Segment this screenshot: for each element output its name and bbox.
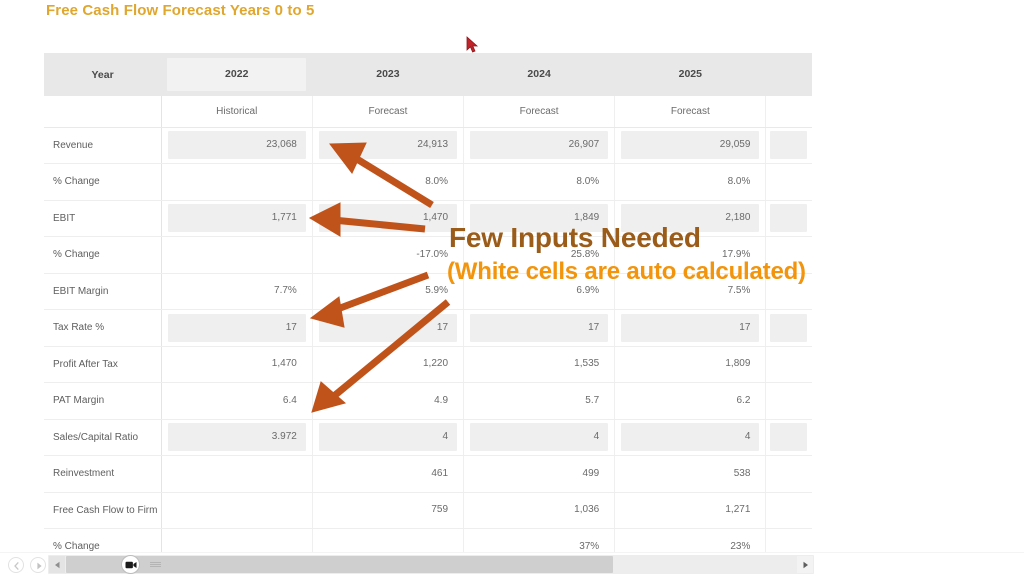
input-cell[interactable] bbox=[766, 200, 812, 237]
header-col-2024[interactable]: 2024 bbox=[464, 53, 615, 96]
cell-value: 1,220 bbox=[319, 350, 457, 378]
cell-value: 8.0% bbox=[621, 168, 759, 196]
cell-value bbox=[770, 204, 807, 232]
cell-value: 4 bbox=[470, 423, 608, 451]
table-row: % Change8.0%8.0%8.0% bbox=[44, 164, 812, 201]
cell-value bbox=[168, 168, 306, 196]
cell-value: 8.0% bbox=[319, 168, 457, 196]
row-label: Revenue bbox=[44, 127, 161, 164]
cell-value bbox=[770, 314, 807, 342]
cell-value bbox=[770, 423, 807, 451]
cell-value: 6.2 bbox=[621, 387, 759, 415]
cell-value: 759 bbox=[319, 496, 457, 524]
cell-value: 23,068 bbox=[168, 131, 306, 159]
cell-value: 1,470 bbox=[168, 350, 306, 378]
previous-slide-button[interactable] bbox=[8, 557, 24, 573]
calculated-cell bbox=[766, 492, 812, 529]
calculated-cell: 7.7% bbox=[161, 273, 312, 310]
video-camera-icon bbox=[125, 560, 137, 570]
play-triangle-icon bbox=[34, 561, 44, 571]
input-cell[interactable]: 1,771 bbox=[161, 200, 312, 237]
player-toolbar bbox=[0, 552, 1024, 576]
cell-value bbox=[168, 241, 306, 269]
row-label: EBIT Margin bbox=[44, 273, 161, 310]
cell-value bbox=[168, 496, 306, 524]
header-col-2022[interactable]: 2022 bbox=[161, 53, 312, 96]
input-cell[interactable]: 4 bbox=[464, 419, 615, 456]
cell-value: 17 bbox=[168, 314, 306, 342]
calculated-cell: 499 bbox=[464, 456, 615, 493]
calculated-cell: 8.0% bbox=[615, 164, 766, 201]
header-type-2025: Forecast bbox=[615, 96, 766, 127]
cell-value: 17 bbox=[319, 314, 457, 342]
input-cell[interactable]: 24,913 bbox=[312, 127, 463, 164]
free-cash-flow-table: Year 2022 2023 2024 2025 Historical Fore… bbox=[44, 53, 812, 566]
table-head: Year 2022 2023 2024 2025 Historical Fore… bbox=[44, 53, 812, 127]
cell-value: 1,809 bbox=[621, 350, 759, 378]
header-row-year: Year 2022 2023 2024 2025 bbox=[44, 53, 812, 96]
calculated-cell bbox=[766, 346, 812, 383]
cell-value: 4.9 bbox=[319, 387, 457, 415]
cell-value: -17.0% bbox=[319, 241, 457, 269]
input-cell[interactable]: 17 bbox=[312, 310, 463, 347]
cell-value: 1,470 bbox=[319, 204, 457, 232]
header-col-2023[interactable]: 2023 bbox=[312, 53, 463, 96]
input-cell[interactable]: 29,059 bbox=[615, 127, 766, 164]
calculated-cell: 461 bbox=[312, 456, 463, 493]
calculated-cell: 6.4 bbox=[161, 383, 312, 420]
input-cell[interactable]: 17 bbox=[615, 310, 766, 347]
scroll-right-button[interactable] bbox=[797, 556, 813, 573]
row-label: Reinvestment bbox=[44, 456, 161, 493]
header-type-blank bbox=[44, 96, 161, 127]
cell-value bbox=[770, 460, 807, 488]
calculated-cell: 759 bbox=[312, 492, 463, 529]
header-col-2024-label: 2024 bbox=[470, 58, 609, 91]
table-row: Revenue23,06824,91326,90729,059 bbox=[44, 127, 812, 164]
cell-value: 29,059 bbox=[621, 131, 759, 159]
callout-heading: Few Inputs Needed bbox=[449, 222, 701, 254]
fcf-table-container: Year 2022 2023 2024 2025 Historical Fore… bbox=[44, 53, 812, 566]
cell-value: 461 bbox=[319, 460, 457, 488]
cell-value bbox=[770, 387, 807, 415]
table-row: Free Cash Flow to Firm7591,0361,271 bbox=[44, 492, 812, 529]
calculated-cell bbox=[161, 237, 312, 274]
calculated-cell: 1,535 bbox=[464, 346, 615, 383]
header-col-extra bbox=[766, 53, 812, 96]
input-cell[interactable] bbox=[766, 310, 812, 347]
cell-value bbox=[770, 496, 807, 524]
cell-value: 8.0% bbox=[470, 168, 608, 196]
calculated-cell bbox=[161, 492, 312, 529]
horizontal-scrollbar[interactable] bbox=[48, 555, 814, 574]
cell-value: 1,271 bbox=[621, 496, 759, 524]
row-label: Tax Rate % bbox=[44, 310, 161, 347]
input-cell[interactable]: 17 bbox=[464, 310, 615, 347]
table-row: Tax Rate %17171717 bbox=[44, 310, 812, 347]
cell-value: 3.972 bbox=[168, 423, 306, 451]
table-row: Reinvestment461499538 bbox=[44, 456, 812, 493]
page-title: Free Cash Flow Forecast Years 0 to 5 bbox=[46, 2, 314, 19]
calculated-cell: -17.0% bbox=[312, 237, 463, 274]
calculated-cell: 8.0% bbox=[312, 164, 463, 201]
cell-value: 26,907 bbox=[470, 131, 608, 159]
cell-value: 538 bbox=[621, 460, 759, 488]
cell-value: 4 bbox=[319, 423, 457, 451]
row-label: Sales/Capital Ratio bbox=[44, 419, 161, 456]
input-cell[interactable]: 4 bbox=[312, 419, 463, 456]
header-type-2022: Historical bbox=[161, 96, 312, 127]
header-col-2025[interactable]: 2025 bbox=[615, 53, 766, 96]
calculated-cell: 6.2 bbox=[615, 383, 766, 420]
header-col-2022-label: 2022 bbox=[167, 58, 306, 91]
cell-value: 4 bbox=[621, 423, 759, 451]
calculated-cell: 4.9 bbox=[312, 383, 463, 420]
calculated-cell: 8.0% bbox=[464, 164, 615, 201]
calculated-cell bbox=[766, 383, 812, 420]
calculated-cell bbox=[161, 164, 312, 201]
row-label: % Change bbox=[44, 164, 161, 201]
cell-value: 24,913 bbox=[319, 131, 457, 159]
input-cell[interactable]: 4 bbox=[615, 419, 766, 456]
input-cell[interactable]: 26,907 bbox=[464, 127, 615, 164]
input-cell[interactable]: 3.972 bbox=[161, 419, 312, 456]
calculated-cell: 1,470 bbox=[161, 346, 312, 383]
cell-value bbox=[770, 131, 807, 159]
row-label: Profit After Tax bbox=[44, 346, 161, 383]
scroll-left-button[interactable] bbox=[49, 556, 65, 573]
calculated-cell: 538 bbox=[615, 456, 766, 493]
calculated-cell: 5.9% bbox=[312, 273, 463, 310]
header-row-type: Historical Forecast Forecast Forecast bbox=[44, 96, 812, 127]
cell-value: 7.7% bbox=[168, 277, 306, 305]
screen-root: Free Cash Flow Forecast Years 0 to 5 Yea… bbox=[0, 0, 1024, 576]
calculated-cell: 1,809 bbox=[615, 346, 766, 383]
cell-value: 1,036 bbox=[470, 496, 608, 524]
table-row: Profit After Tax1,4701,2201,5351,809 bbox=[44, 346, 812, 383]
cell-value: 17 bbox=[470, 314, 608, 342]
cell-value bbox=[770, 168, 807, 196]
row-label: PAT Margin bbox=[44, 383, 161, 420]
row-label: EBIT bbox=[44, 200, 161, 237]
input-cell[interactable] bbox=[766, 419, 812, 456]
calculated-cell: 1,036 bbox=[464, 492, 615, 529]
cell-value: 6.4 bbox=[168, 387, 306, 415]
cell-value: 5.7 bbox=[470, 387, 608, 415]
recording-indicator-button[interactable] bbox=[121, 555, 140, 574]
mouse-cursor-icon bbox=[466, 36, 480, 54]
input-cell[interactable]: 1,470 bbox=[312, 200, 463, 237]
row-label: Free Cash Flow to Firm bbox=[44, 492, 161, 529]
cell-value bbox=[168, 460, 306, 488]
callout-subheading: (White cells are auto calculated) bbox=[447, 258, 806, 286]
cell-value: 5.9% bbox=[319, 277, 457, 305]
table-row: Sales/Capital Ratio3.972444 bbox=[44, 419, 812, 456]
calculated-cell bbox=[161, 456, 312, 493]
cell-value: 1,535 bbox=[470, 350, 608, 378]
drag-grip-icon[interactable] bbox=[150, 562, 161, 567]
input-cell[interactable]: 17 bbox=[161, 310, 312, 347]
cell-value: 1,771 bbox=[168, 204, 306, 232]
cell-value: 499 bbox=[470, 460, 608, 488]
calculated-cell: 5.7 bbox=[464, 383, 615, 420]
chevron-left-icon bbox=[12, 561, 22, 571]
header-year-label: Year bbox=[44, 53, 161, 96]
calculated-cell: 1,220 bbox=[312, 346, 463, 383]
next-slide-button[interactable] bbox=[30, 557, 46, 573]
row-label: % Change bbox=[44, 237, 161, 274]
header-col-2023-label: 2023 bbox=[318, 58, 457, 91]
cell-value bbox=[770, 350, 807, 378]
header-col-2025-label: 2025 bbox=[621, 58, 760, 91]
input-cell[interactable] bbox=[766, 127, 812, 164]
table-row: PAT Margin6.44.95.76.2 bbox=[44, 383, 812, 420]
calculated-cell bbox=[766, 456, 812, 493]
triangle-right-icon bbox=[802, 561, 809, 569]
input-cell[interactable]: 23,068 bbox=[161, 127, 312, 164]
table-body: Revenue23,06824,91326,90729,059% Change8… bbox=[44, 127, 812, 565]
scrollbar-thumb[interactable] bbox=[66, 556, 613, 573]
header-type-2023: Forecast bbox=[312, 96, 463, 127]
triangle-left-icon bbox=[54, 561, 61, 569]
cell-value: 17 bbox=[621, 314, 759, 342]
header-type-2024: Forecast bbox=[464, 96, 615, 127]
calculated-cell bbox=[766, 164, 812, 201]
header-type-extra bbox=[766, 96, 812, 127]
calculated-cell: 1,271 bbox=[615, 492, 766, 529]
